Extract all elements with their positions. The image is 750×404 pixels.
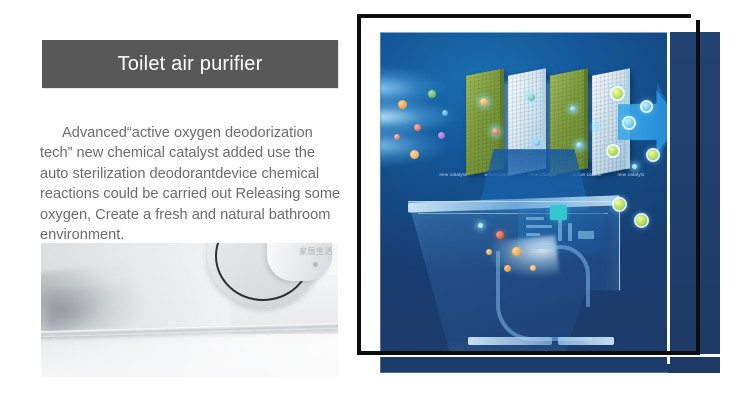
molecule-icon	[442, 110, 448, 116]
molecule-icon	[534, 140, 540, 146]
oxygen-molecule-icon	[608, 146, 618, 156]
toilet-base-left	[468, 337, 552, 345]
oxygen-molecule-icon	[642, 102, 651, 111]
molecule-icon	[492, 128, 499, 135]
fresh-oxygen-icon	[614, 199, 625, 210]
module-detail	[568, 223, 572, 241]
left-content-column: Toilet air purifier Advanced“active oxyg…	[0, 0, 350, 404]
oxygen-molecule-icon	[612, 88, 623, 99]
molecule-icon	[570, 106, 576, 112]
module-detail	[558, 219, 562, 241]
oxygen-molecule-icon	[624, 118, 634, 128]
odor-molecule-icon	[486, 249, 492, 255]
product-photo-image: 家居生活	[41, 243, 338, 377]
panel-right-band	[668, 32, 720, 373]
toilet-base-right	[558, 337, 614, 345]
molecule-icon	[438, 132, 445, 139]
molecule-icon	[480, 98, 488, 106]
molecule-icon	[576, 142, 583, 149]
toilet-cutaway-illustration	[400, 187, 670, 357]
purification-diagram-panel: new catalyst active carbon new catalyst …	[380, 32, 720, 373]
molecule-icon	[398, 100, 407, 109]
page-title: Toilet air purifier	[118, 53, 263, 76]
molecule-icon	[414, 124, 421, 131]
module-detail	[526, 217, 544, 220]
product-photo: 家居生活	[41, 243, 338, 377]
section-title-bar: Toilet air purifier	[42, 40, 338, 88]
odor-molecule-icon	[530, 265, 536, 271]
frame-corner-gap	[691, 10, 705, 20]
odor-molecule-icon	[504, 265, 511, 272]
photo-watermark: 家居生活	[299, 246, 333, 257]
module-detail	[526, 233, 540, 236]
molecule-icon	[528, 94, 535, 101]
molecule-icon	[428, 90, 436, 98]
page-root: Toilet air purifier Advanced“active oxyg…	[0, 0, 750, 404]
molecule-icon	[394, 134, 400, 140]
panel-top-highlight	[380, 32, 668, 33]
oxygen-molecule-icon	[648, 150, 658, 160]
right-illustration-column: new catalyst active carbon new catalyst …	[350, 0, 750, 404]
panel-inner-horizontal-rule	[380, 354, 720, 357]
fresh-oxygen-icon	[636, 215, 647, 226]
oxygen-molecule-icon	[594, 124, 599, 129]
filter-label-5: new catalyst	[600, 172, 662, 177]
panel-inner-vertical-rule	[667, 32, 670, 364]
molecule-icon	[410, 150, 419, 159]
odor-molecule-icon	[512, 247, 521, 256]
purifier-indicator	[550, 205, 567, 220]
toilet-trap-curve-right	[528, 245, 590, 307]
module-detail	[526, 225, 552, 228]
oxygen-molecule-icon	[632, 164, 637, 169]
odor-molecule-icon	[496, 231, 504, 239]
module-detail	[578, 231, 594, 239]
description-paragraph: Advanced“active oxygen deodorization tec…	[40, 123, 345, 246]
odor-molecule-icon	[478, 223, 483, 228]
